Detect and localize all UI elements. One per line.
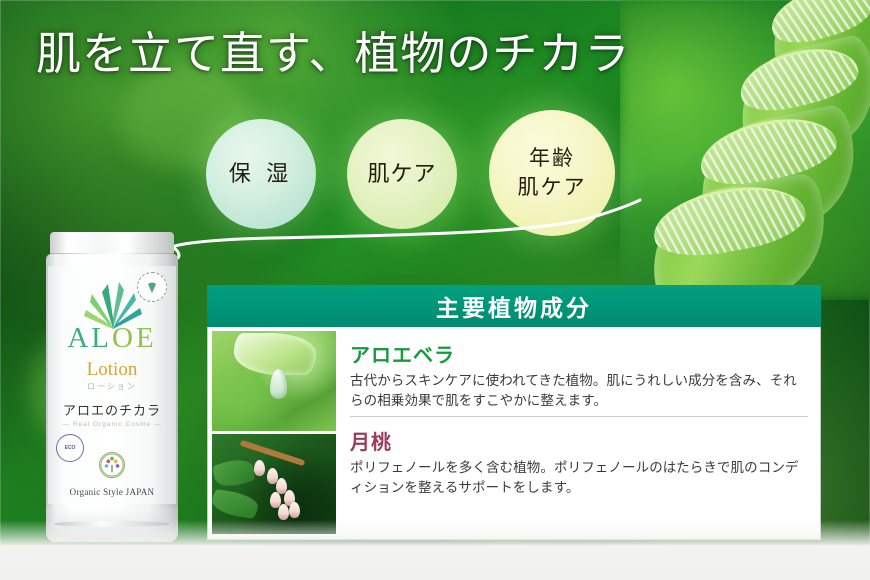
bottle-product-type-jp: ローション (48, 381, 176, 392)
organic-seal-icon (137, 272, 167, 302)
bottle-product-type: Lotion (48, 359, 176, 381)
aloe-gel-leaf-shape (234, 333, 316, 375)
brand-mark-part2: OE (112, 322, 157, 354)
ingredients-panel: 主要植物成分 (207, 285, 821, 540)
bottle-brand-name: Organic Style JAPAN (48, 487, 176, 497)
bottle-base (46, 508, 178, 542)
badge-age-care-line1: 年齢 (529, 146, 575, 170)
ginger-bud-shape (278, 504, 289, 520)
ginger-leaf-shape (212, 489, 259, 519)
ginger-bud-shape (254, 460, 265, 476)
ingredient-title-aloe-vera: アロエベラ (350, 339, 808, 368)
ingredient-description-aloe-vera: 古代からスキンケアに使われてきた植物。肌にうれしい成分を含み、それらの相乗効果で… (350, 371, 808, 410)
ecocert-badge-icon: ECO (56, 434, 84, 462)
swoosh-connector-line (120, 198, 660, 288)
ingredients-panel-body: アロエベラ 古代からスキンケアに使われてきた植物。肌にうれしい成分を含み、それら… (207, 327, 821, 540)
brand-logo-icon (99, 452, 125, 478)
bottle-subtitle: — Real Organic Cosme — (48, 421, 176, 428)
bottle-label: ALOE Lotion ローション アロエのチカラ — Real Organic… (48, 266, 176, 504)
ingredient-thumbnails (208, 327, 336, 539)
brand-mark-part1: AL (67, 322, 112, 354)
ingredient-title-gettou: 月桃 (350, 426, 808, 455)
badge-age-care-label: 年齢 肌ケア (518, 144, 587, 203)
ingredient-description-gettou: ポリフェノールを多く含む植物。ポリフェノールのはたらきで肌のコンディションを整え… (350, 458, 808, 497)
promotional-banner: 肌を立て直す、植物のチカラ 保 湿 肌ケア 年齢 肌ケア (0, 0, 870, 580)
ingredients-panel-header: 主要植物成分 (207, 285, 821, 327)
ginger-bud-shape (289, 502, 300, 518)
ingredient-entries: アロエベラ 古代からスキンケアに使われてきた植物。肌にうれしい成分を含み、それら… (336, 327, 820, 539)
badge-moisture-label: 保 湿 (229, 160, 294, 188)
seal-leaf-icon (144, 279, 160, 295)
product-bottle: ALOE Lotion ローション アロエのチカラ — Real Organic… (42, 232, 182, 542)
ingredient-entry-aloe-vera: アロエベラ 古代からスキンケアに使われてきた植物。肌にうれしい成分を含み、それら… (350, 335, 808, 410)
thumbnail-shell-ginger-flower (212, 434, 336, 534)
ingredient-entry-gettou: 月桃 ポリフェノールを多く含む植物。ポリフェノールのはたらきで肌のコンディション… (350, 416, 808, 497)
page-title: 肌を立て直す、植物のチカラ (36, 28, 630, 81)
badge-age-care-line2: 肌ケア (518, 175, 587, 199)
ginger-leaf-shape (212, 454, 258, 491)
badge-skincare-label: 肌ケア (367, 160, 436, 188)
bottle-tagline: アロエのチカラ (48, 400, 176, 419)
thumbnail-aloe-gel-drop (212, 331, 336, 431)
bottle-brand-mark: ALOE (48, 322, 176, 355)
